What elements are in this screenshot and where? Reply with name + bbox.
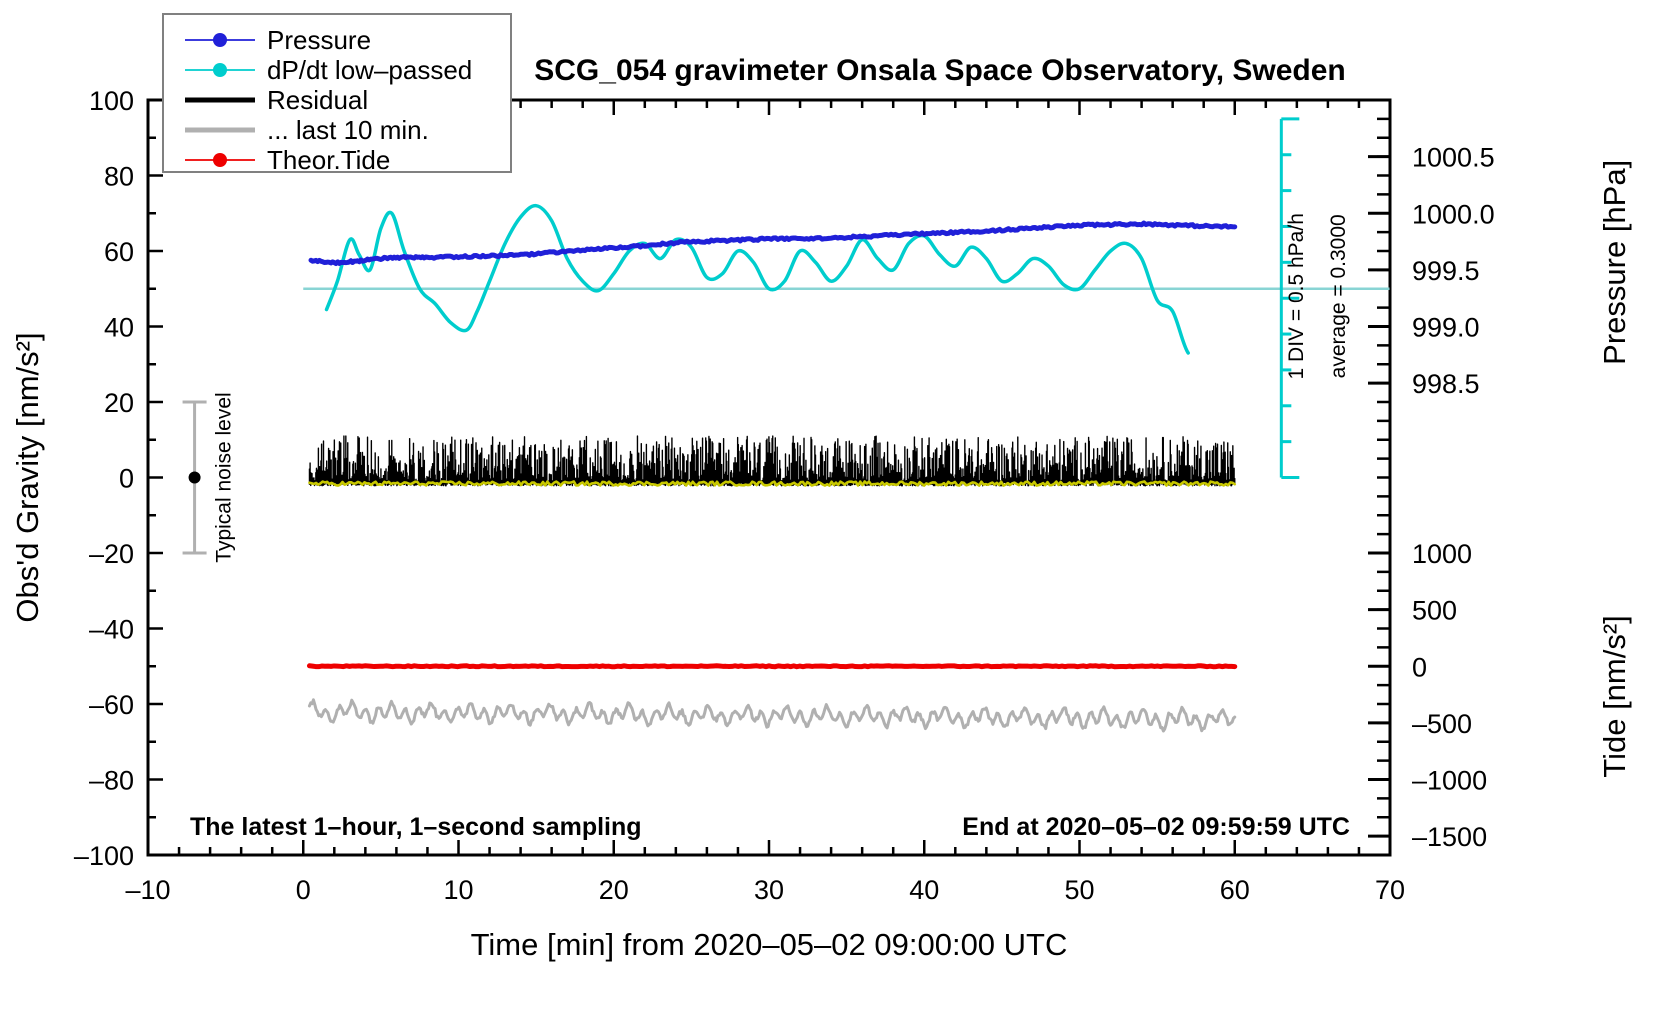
- chart-title: SCG_054 gravimeter Onsala Space Observat…: [534, 54, 1346, 87]
- legend-marker: [213, 33, 227, 47]
- pressure-curve: [311, 223, 1235, 263]
- chart-canvas: –10010203040506070Time [min] from 2020–0…: [0, 0, 1660, 1020]
- y-tick-label: 80: [104, 162, 134, 192]
- y-tick-label: –60: [89, 690, 134, 720]
- end-time-note: End at 2020–05–02 09:59:59 UTC: [962, 813, 1350, 841]
- y-tick-label: –40: [89, 615, 134, 645]
- last10min-curve: [309, 700, 1234, 731]
- tide-tick-label: –1000: [1412, 766, 1487, 796]
- theor-tide-curve: [309, 666, 1234, 667]
- tide-tick-label: 1000: [1412, 539, 1472, 569]
- y-tick-label: –100: [74, 841, 134, 871]
- residual-noise: [309, 436, 1234, 486]
- y-axis-title: Obs'd Gravity [nm/s²]: [10, 332, 45, 622]
- x-tick-label: 50: [1064, 875, 1094, 905]
- pressure-tick-label: 998.5: [1412, 369, 1480, 399]
- x-tick-label: 60: [1220, 875, 1250, 905]
- tide-tick-label: –1500: [1412, 822, 1487, 852]
- noise-level-label: Typical noise level: [213, 392, 236, 562]
- tide-axis-title: Tide [nm/s²]: [1597, 615, 1632, 778]
- pressure-tick-label: 999.5: [1412, 256, 1480, 286]
- y-tick-label: 20: [104, 388, 134, 418]
- y-tick-label: 60: [104, 237, 134, 267]
- x-tick-label: –10: [125, 875, 170, 905]
- dpdt-average-label: average = 0.3000: [1327, 214, 1350, 378]
- x-tick-label: 0: [296, 875, 311, 905]
- legend-label: Theor.Tide: [267, 145, 390, 175]
- legend-label: Pressure: [267, 25, 371, 55]
- tide-tick-label: –500: [1412, 709, 1472, 739]
- legend-label: ... last 10 min.: [267, 115, 429, 145]
- noise-level-dot: [189, 472, 201, 484]
- x-tick-label: 10: [443, 875, 473, 905]
- x-tick-label: 30: [754, 875, 784, 905]
- x-axis-title: Time [min] from 2020–05–02 09:00:00 UTC: [471, 927, 1068, 962]
- tide-tick-label: 0: [1412, 652, 1427, 682]
- legend-label: dP/dt low–passed: [267, 55, 472, 85]
- tide-tick-label: 500: [1412, 596, 1457, 626]
- pressure-tick-label: 1000.0: [1412, 199, 1495, 229]
- y-tick-label: 0: [119, 464, 134, 494]
- y-tick-label: 40: [104, 313, 134, 343]
- x-tick-label: 20: [599, 875, 629, 905]
- legend-label: Residual: [267, 85, 368, 115]
- pressure-tick-label: 999.0: [1412, 313, 1480, 343]
- pressure-tick-label: 1000.5: [1412, 143, 1495, 173]
- gravimeter-chart: –10010203040506070Time [min] from 2020–0…: [0, 0, 1660, 1020]
- x-tick-label: 40: [909, 875, 939, 905]
- legend-marker: [213, 153, 227, 167]
- pressure-axis-title: Pressure [hPa]: [1597, 160, 1632, 365]
- sampling-note: The latest 1–hour, 1–second sampling: [190, 813, 642, 841]
- y-tick-label: –20: [89, 539, 134, 569]
- legend-marker: [213, 63, 227, 77]
- y-tick-label: 100: [89, 86, 134, 116]
- x-tick-label: 70: [1375, 875, 1405, 905]
- dpdt-scale-div-label: 1 DIV = 0.5 hPa/h: [1285, 213, 1308, 379]
- y-tick-label: –80: [89, 766, 134, 796]
